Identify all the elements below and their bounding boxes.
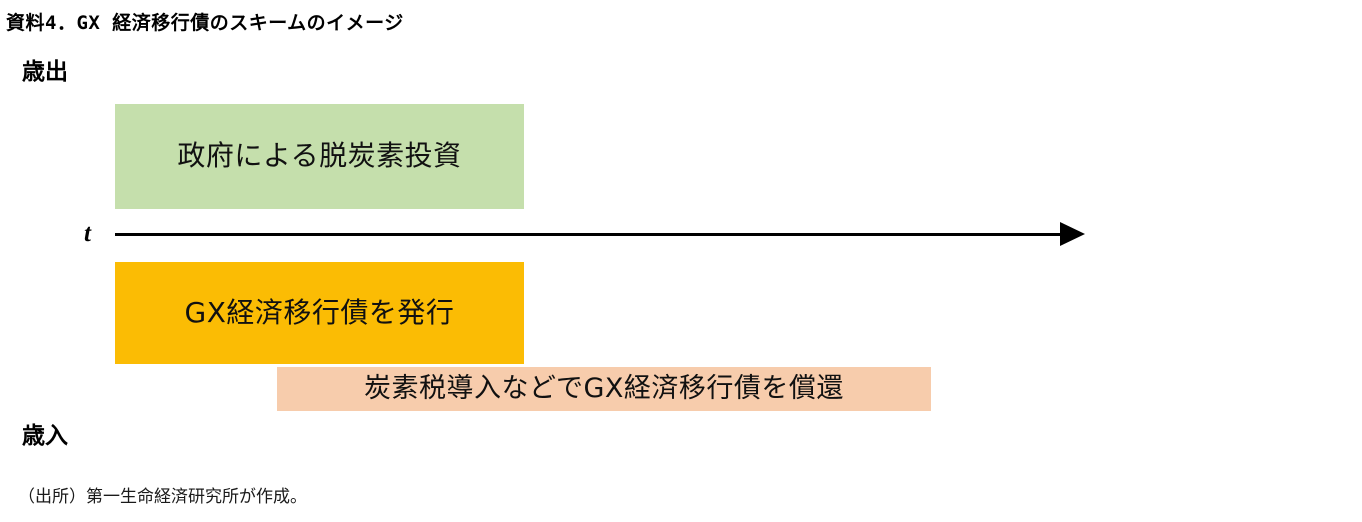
- flow-box-issuance-label: GX経済移行債を発行: [185, 298, 455, 329]
- right-arrow-icon: [1060, 222, 1085, 246]
- figure-canvas: 資料4．GX 経済移行債のスキームのイメージ 歳出 政府による脱炭素投資 t G…: [0, 0, 1362, 522]
- flow-box-investment-label: 政府による脱炭素投資: [177, 141, 461, 172]
- flow-box-issuance: GX経済移行債を発行: [115, 262, 524, 364]
- time-axis-label: t: [84, 220, 91, 248]
- source-note: （出所）第一生命経済研究所が作成。: [18, 482, 307, 507]
- flow-box-redemption: 炭素税導入などでGX経済移行債を償還: [277, 367, 931, 411]
- figure-title: 資料4．GX 経済移行債のスキームのイメージ: [6, 8, 404, 35]
- axis-side-label-revenue: 歳入: [22, 416, 68, 450]
- flow-box-redemption-label: 炭素税導入などでGX経済移行債を償還: [364, 374, 844, 404]
- flow-box-investment: 政府による脱炭素投資: [115, 104, 524, 209]
- time-axis-line: [115, 233, 1065, 236]
- axis-side-label-expenditure: 歳出: [22, 52, 68, 86]
